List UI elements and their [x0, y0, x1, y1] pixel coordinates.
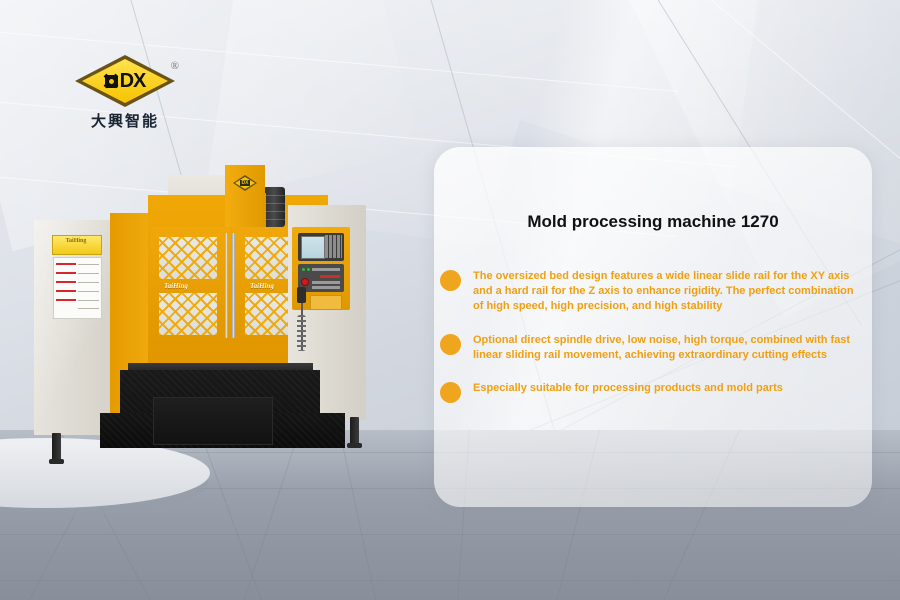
list-item: The oversized bed design features a wide…	[440, 269, 858, 315]
soft-key-grid[interactable]	[325, 235, 342, 258]
door-brand-text: TaiHing	[164, 283, 188, 290]
nameplate-text: TaiHing	[52, 238, 100, 246]
logo-letters: DX	[120, 71, 146, 91]
chip-access-door	[153, 397, 273, 445]
company-logo: DX ® 大興智能	[70, 55, 180, 143]
hanging-pendant	[297, 287, 306, 303]
bullet-dot-icon	[440, 334, 461, 355]
page-title: Mold processing machine 1270	[434, 212, 872, 232]
cnc-display-screen	[301, 236, 325, 259]
product-info-card: Mold processing machine 1270 The oversiz…	[434, 147, 872, 507]
pendant-coiled-cable	[297, 315, 306, 351]
feature-text: The oversized bed design features a wide…	[473, 269, 858, 315]
bullet-dot-icon	[440, 382, 461, 403]
registered-icon: ®	[171, 61, 179, 72]
list-item: Optional direct spindle drive, low noise…	[440, 333, 858, 363]
door-brand-text: TaiHing	[250, 283, 274, 290]
logo-tower	[225, 165, 265, 227]
product-photo-cnc-machine: TaiHing DX	[20, 165, 420, 465]
company-name-cn: 大興智能	[70, 114, 180, 129]
product-showcase-slide: DX ® 大興智能 TaiHing	[0, 0, 900, 600]
panel-access-door	[310, 295, 342, 310]
machine-door-left: TaiHing	[150, 227, 230, 347]
door-handle	[232, 233, 235, 338]
spec-sheet	[53, 257, 102, 319]
leveling-foot	[52, 433, 61, 461]
emergency-stop-icon[interactable]	[301, 278, 309, 286]
tower-logo-icon: DX	[240, 180, 250, 186]
feature-text: Especially suitable for processing produ…	[473, 381, 785, 396]
feature-list: The oversized bed design features a wide…	[440, 269, 858, 421]
dx-diamond-icon: DX ®	[75, 55, 175, 107]
tool-changer-drum	[263, 187, 285, 227]
bullet-dot-icon	[440, 270, 461, 291]
list-item: Especially suitable for processing produ…	[440, 381, 858, 403]
feature-text: Optional direct spindle drive, low noise…	[473, 333, 858, 363]
door-handle	[225, 233, 228, 338]
leveling-foot	[350, 417, 359, 445]
gear-icon	[105, 75, 118, 88]
